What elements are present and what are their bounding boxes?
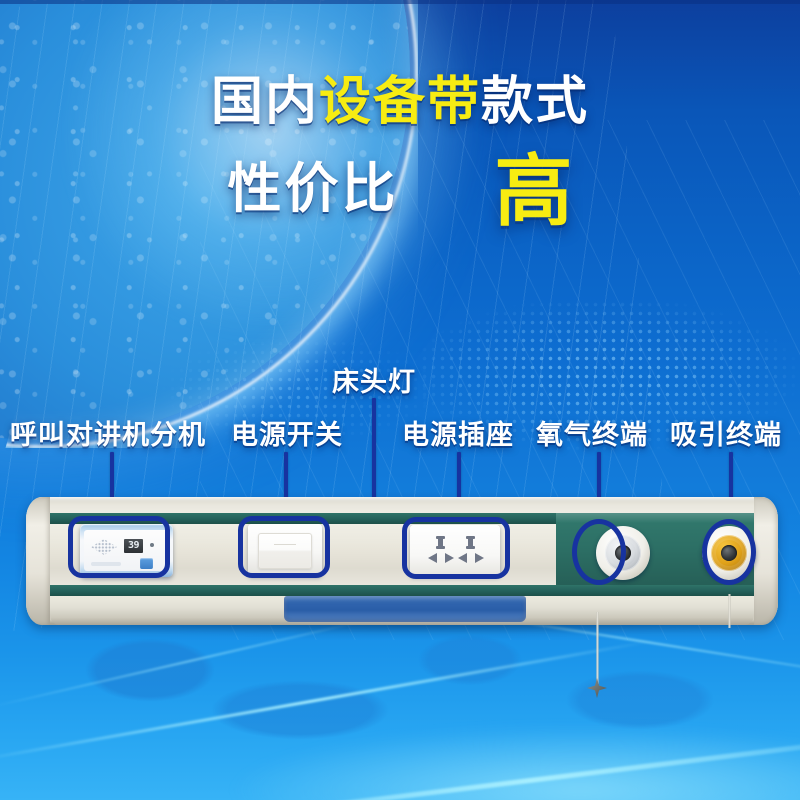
callout-label-intercom: 呼叫对讲机分机 — [10, 413, 206, 452]
suction-hanging-cord — [728, 594, 731, 628]
callout-label-power-socket: 电源插座 — [402, 413, 514, 452]
intercom-display: 39 — [124, 539, 143, 553]
power-socket-unit[interactable] — [410, 525, 500, 576]
socket-live-pin-icon — [458, 553, 467, 563]
panel-end-cap-left — [26, 497, 50, 625]
oxygen-port-hole — [615, 545, 631, 561]
speaker-grille-icon — [91, 539, 117, 555]
poster-canvas: 国内设备带款式 性价比 高 呼叫对讲机分机 电源开关 床头灯 电源插座 氧气终端… — [0, 0, 800, 800]
panel-end-cap-right — [754, 497, 778, 625]
callout-label-suction: 吸引终端 — [670, 413, 782, 452]
headline-highlight-char: 高 — [494, 152, 572, 230]
headline-block: 国内设备带款式 性价比 高 — [0, 76, 800, 228]
intercom-call-button[interactable] — [140, 558, 153, 569]
socket-earth-pin-icon — [468, 537, 473, 548]
suction-terminal-port[interactable] — [702, 526, 756, 580]
socket-live-pin-icon — [428, 553, 437, 563]
nurse-call-intercom-unit[interactable]: 39 — [80, 524, 173, 577]
headline-line-1: 国内设备带款式 — [0, 76, 800, 128]
top-edge-band — [0, 0, 800, 4]
suction-port-hole — [721, 545, 737, 561]
intercom-faceplate: 39 — [84, 530, 169, 571]
socket-earth-pin-icon — [438, 537, 443, 548]
headline-line-2: 性价比 高 — [0, 150, 800, 228]
oxygen-terminal-port[interactable] — [596, 526, 650, 580]
panel-body: 39 — [26, 497, 778, 625]
bed-head-unit-panel: 39 — [26, 497, 778, 625]
headline-value-label: 性价比 — [227, 162, 398, 216]
intercom-label-strip — [91, 562, 121, 566]
panel-stripe-bottom — [50, 585, 754, 596]
switch-rocker[interactable] — [258, 533, 312, 569]
headline-text-part-1: 国内 — [211, 73, 319, 131]
callout-label-oxygen: 氧气终端 — [536, 413, 648, 452]
callout-label-bed-lamp: 床头灯 — [332, 360, 416, 399]
bed-lamp-light-strip[interactable] — [284, 596, 526, 622]
power-switch-unit[interactable] — [248, 524, 322, 576]
socket-outlet[interactable] — [456, 537, 486, 564]
status-led-icon — [150, 543, 154, 547]
headline-text-part-2: 款式 — [481, 73, 589, 131]
headline-accent-text: 设备带 — [319, 73, 481, 131]
oxygen-hanging-cord — [596, 612, 599, 684]
socket-neutral-pin-icon — [445, 553, 454, 563]
socket-neutral-pin-icon — [475, 553, 484, 563]
callout-label-power-switch: 电源开关 — [231, 413, 343, 452]
socket-outlet[interactable] — [426, 537, 456, 564]
